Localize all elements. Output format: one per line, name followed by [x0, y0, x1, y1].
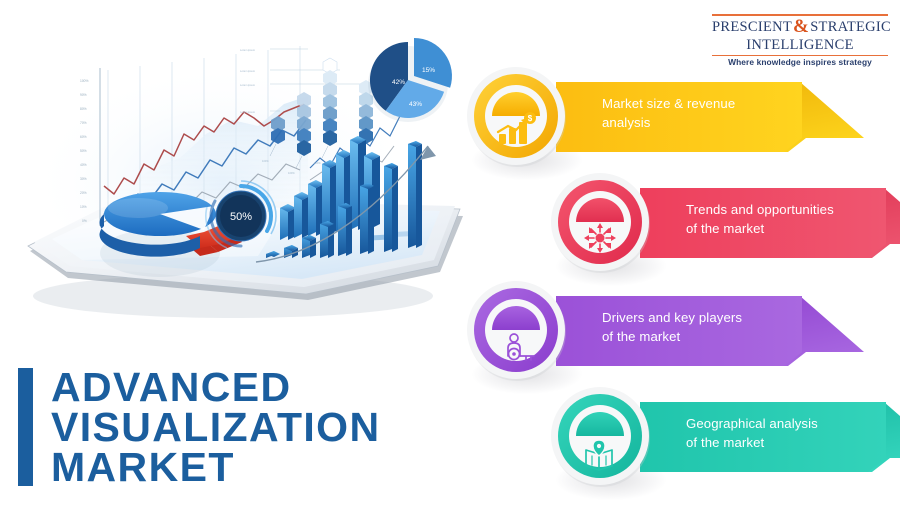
svg-text:40%: 40%: [80, 163, 87, 167]
logo-ampersand: &: [792, 16, 810, 37]
callout-icon-circle-3[interactable]: [464, 278, 568, 382]
callout-icon-circle-2[interactable]: [548, 170, 652, 274]
logo-intelligence: INTELLIGENCE: [712, 38, 888, 53]
svg-text:30%: 30%: [80, 177, 87, 181]
svg-text:60%: 60%: [80, 135, 87, 139]
svg-text:Lorem ipsum: Lorem ipsum: [240, 69, 255, 73]
callout-icon-circle-4[interactable]: [548, 384, 652, 488]
title-line-1: ADVANCED: [51, 368, 380, 408]
svg-text:100%: 100%: [262, 159, 269, 163]
svg-text:Lorem ipsum: Lorem ipsum: [240, 48, 255, 52]
gauge-value-label: 50%: [230, 211, 252, 223]
logo-strategic: STRATEGIC: [810, 19, 891, 35]
svg-text:$: $: [528, 114, 533, 123]
svg-text:70%: 70%: [80, 121, 87, 125]
hero-analytics-illustration: 100%90% 80%70% 60%50% 40%30% 20%10% 0%: [8, 8, 478, 328]
svg-text:100%: 100%: [288, 171, 295, 175]
hex-column-2: [297, 92, 311, 156]
infographic-canvas: 100%90% 80%70% 60%50% 40%30% 20%10% 0%: [0, 0, 900, 522]
callout-label-3-line1: Drivers and key players: [602, 310, 742, 325]
svg-text:Lorem ipsum: Lorem ipsum: [240, 83, 255, 87]
callout-label-1-line2: analysis: [602, 115, 650, 130]
callout-label-1-line1: Market size & revenue: [602, 96, 735, 111]
callout-label-2-line2: of the market: [686, 221, 764, 236]
hex-column-3: [323, 58, 337, 146]
callout-label-4-line2: of the market: [686, 435, 764, 450]
callout-label-2: Trends and opportunities of the market: [686, 200, 866, 238]
page-title: ADVANCED VISUALIZATION MARKET: [18, 368, 380, 487]
title-text: ADVANCED VISUALIZATION MARKET: [51, 368, 380, 487]
pie-label-42: 42%: [392, 79, 405, 86]
svg-text:80%: 80%: [80, 107, 87, 111]
callout-label-4: Geographical analysis of the market: [686, 414, 866, 452]
pie-label-43: 43%: [409, 101, 422, 108]
svg-text:20%: 20%: [80, 191, 87, 195]
callout-label-2-line1: Trends and opportunities: [686, 202, 834, 217]
svg-text:90%: 90%: [80, 93, 87, 97]
title-line-3: MARKET: [51, 448, 380, 488]
callout-label-1: Market size & revenue analysis: [602, 94, 782, 132]
callout-label-3-line2: of the market: [602, 329, 680, 344]
svg-text:Lorem ipsum: Lorem ipsum: [240, 110, 255, 114]
logo-prescient: PRESCIENT: [712, 19, 792, 35]
logo-line-1: PRESCIENT&STRATEGIC: [712, 14, 888, 37]
logo-tagline: Where knowledge inspires strategy: [712, 55, 888, 67]
callout-label-3: Drivers and key players of the market: [602, 308, 782, 346]
svg-text:100%: 100%: [80, 79, 89, 83]
svg-text:10%: 10%: [80, 205, 87, 209]
title-accent-bar: [18, 368, 33, 486]
hero-pie-chart: 42% 43% 15%: [368, 38, 452, 122]
callout-label-4-line1: Geographical analysis: [686, 416, 818, 431]
pie-label-15: 15%: [422, 67, 435, 74]
callout-icon-circle-1[interactable]: $: [464, 64, 568, 168]
svg-text:0%: 0%: [82, 219, 87, 223]
title-line-2: VISUALIZATION: [51, 408, 380, 448]
company-logo: PRESCIENT&STRATEGIC INTELLIGENCE Where k…: [712, 14, 888, 67]
svg-text:50%: 50%: [80, 149, 87, 153]
svg-text:100%: 100%: [314, 161, 321, 165]
